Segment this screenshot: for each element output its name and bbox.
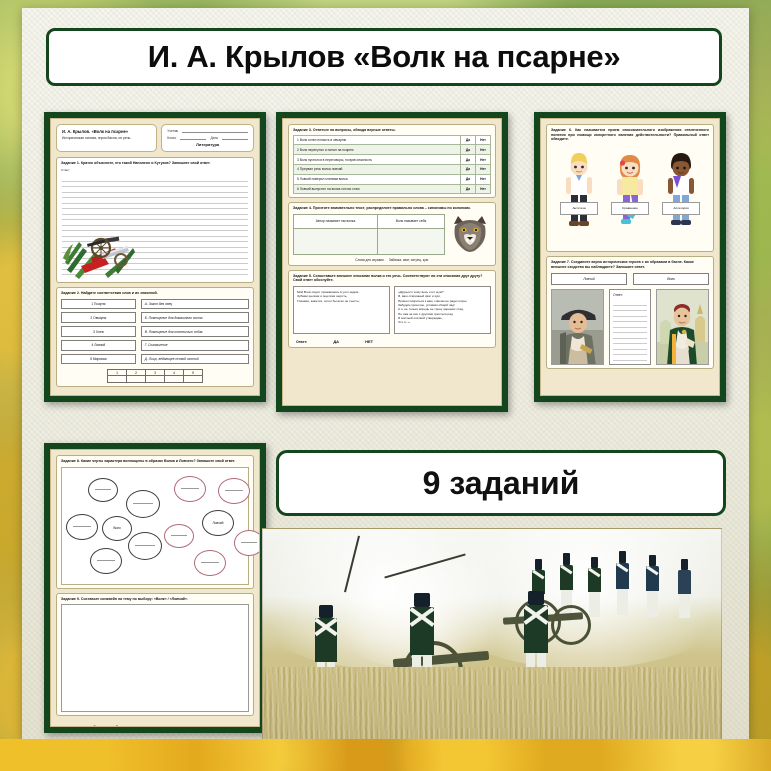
napoleon-portrait: [551, 289, 604, 365]
table-row: 4 Прервал речь волка ловчий Да Нет: [294, 164, 491, 174]
task-3-heading: Задание 3. Ответьте на вопросы, обводя в…: [293, 128, 491, 133]
worksheet-meta-box: Ученик Класс Дата Литература: [161, 124, 254, 152]
task-count-text: 9 заданий: [423, 465, 580, 502]
task-6-block: Задание 6. Как называется прием иносказа…: [546, 124, 714, 252]
grade-field[interactable]: [129, 723, 217, 727]
worksheet-card-page-3[interactable]: Задание 6. Как называется прием иносказа…: [534, 112, 726, 402]
task-4-hint: Слова для справок: Забияка, сват, хитрец…: [293, 258, 491, 262]
task-7-heading: Задание 7. Соедините верно исторических …: [551, 260, 709, 269]
task-2-definition[interactable]: А. Загон для овец: [141, 299, 249, 309]
task-2-term[interactable]: 3 Хлев: [61, 326, 136, 336]
task-3-yes[interactable]: Да: [461, 145, 476, 155]
task-2-definition[interactable]: Б. Помещение для домашнего скота: [141, 312, 249, 322]
answer-cell[interactable]: [108, 376, 127, 383]
task-3-no[interactable]: Нет: [476, 135, 491, 145]
task-7-answer-lines[interactable]: [613, 300, 647, 361]
task-2-terms-column: 1 Псарня 2 Овчарня 3 Хлев 4 Ловчий 5 Мир…: [61, 299, 136, 365]
cannon-sabre-flags-icon: [61, 218, 135, 280]
kutuzov-portrait: [656, 289, 709, 365]
title-banner: И. А. Крылов «Волк на псарне»: [46, 28, 722, 86]
table-row: 5 Ловчий поверил клятвам волка Да Нет: [294, 174, 491, 184]
task-2-definitions-column: А. Загон для овец Б. Помещение для домаш…: [141, 299, 249, 365]
task-3-no[interactable]: Нет: [476, 174, 491, 184]
task-2-term[interactable]: 1 Псарня: [61, 299, 136, 309]
table-row: 6 Ловчий выпустил на волка гончих стаю Д…: [294, 184, 491, 194]
task-7-name-volk[interactable]: Волк: [633, 273, 709, 285]
worksheet-page-4-inner: Задание 8. Какие черты характера воплоще…: [50, 449, 260, 727]
option-sign-allegoriya[interactable]: Аллегория: [662, 202, 700, 215]
task-4-table: Автор называет так волка Волк называет с…: [293, 214, 445, 255]
task-2-heading: Задание 2. Найдите соответствия слов и и…: [61, 291, 249, 296]
task-3-yes[interactable]: Да: [461, 164, 476, 174]
task-3-yes[interactable]: Да: [461, 184, 476, 194]
worksheet-title-box: И. А. Крылов. «Волк на псарне» Историчес…: [56, 124, 157, 152]
task-3-no[interactable]: Нет: [476, 155, 491, 165]
task-3-question: 3 Волк пустился в переговоры, почуяв опа…: [294, 155, 461, 165]
class-field[interactable]: [180, 136, 206, 140]
task-4-col1-cell[interactable]: [294, 228, 378, 254]
table-row: 3 Волк пустился в переговоры, почуяв опа…: [294, 155, 491, 165]
center-bubble-volk[interactable]: Волк: [102, 516, 132, 541]
worksheet-page-1-inner: И. А. Крылов. «Волк на псарне» Историчес…: [50, 118, 260, 396]
kid-boy-dark[interactable]: Аллегория: [656, 149, 706, 237]
task-5-no-option[interactable]: НЕТ: [365, 339, 373, 344]
task-7-block: Задание 7. Соедините верно исторических …: [546, 256, 714, 369]
date-field[interactable]: [222, 136, 248, 140]
task-6-illustration: Антитеза: [551, 145, 709, 237]
table-row: 1 Волк хотел попасть в овчарню Да Нет: [294, 135, 491, 145]
trait-bubble-empty[interactable]: [126, 490, 160, 518]
task-3-question: 1 Волк хотел попасть в овчарню: [294, 135, 461, 145]
task-2-term[interactable]: 5 Мировая: [61, 354, 136, 364]
class-date-row: Класс Дата: [167, 136, 248, 140]
task-6-heading: Задание 6. Как называется прием иносказа…: [551, 128, 709, 142]
sunflower-border-bottom: [0, 739, 771, 771]
battle-reenactment-photo: [262, 528, 722, 740]
student-row: Ученик: [167, 129, 248, 133]
task-count-banner: 9 заданий: [276, 450, 726, 516]
task-3-table: 1 Волк хотел попасть в овчарню Да Нет 2 …: [293, 135, 491, 195]
task-3-yes[interactable]: Да: [461, 155, 476, 165]
page-title: И. А. Крылов «Волк на псарне»: [148, 39, 621, 75]
grade-row: Оценка за работу:: [56, 723, 254, 727]
task-2-term[interactable]: 2 Овчарня: [61, 312, 136, 322]
worksheet-card-page-4[interactable]: Задание 8. Какие черты характера воплоще…: [44, 443, 266, 733]
task-8-heading: Задание 8. Какие черты характера воплоще…: [61, 459, 249, 464]
task-8-block: Задание 8. Какие черты характера воплоще…: [56, 455, 254, 589]
center-bubble-lovchiy[interactable]: Ловчий: [202, 510, 234, 536]
task-4-block: Задание 4. Прочтите внимательно текст, р…: [288, 202, 496, 266]
task-2-definition[interactable]: Д. Лицо, ведающее псовой охотой: [141, 354, 249, 364]
task-4-col2-header: Волк называет себя: [378, 214, 445, 228]
task-7-answer-box[interactable]: Ответ:: [609, 289, 651, 365]
task-3-question: 2 Волк перепутал и попал на псарню: [294, 145, 461, 155]
student-label: Ученик: [167, 129, 178, 133]
task-7-name-lovchiy[interactable]: Ловчий: [551, 273, 627, 285]
task-1-heading: Задание 1. Кратко объясните, кто такой Н…: [61, 161, 249, 166]
task-4-col2-cell[interactable]: [378, 228, 445, 254]
task-5-appearance-text: Мой Волк сидит, прижавшись в угол задом.…: [293, 286, 390, 334]
student-field[interactable]: [182, 129, 248, 133]
date-label: Дата: [210, 136, 217, 140]
grade-label: Оценка за работу:: [93, 725, 124, 727]
task-7-portraits-row: Ответ:: [551, 289, 709, 365]
task-3-yes[interactable]: Да: [461, 174, 476, 184]
task-5-speech-text: «Друзья! к чему весь этот шум? Я, ваш ст…: [394, 286, 491, 334]
task-2-block: Задание 2. Найдите соответствия слов и и…: [56, 287, 254, 387]
task-2-definition[interactable]: Г. Соглашение: [141, 340, 249, 350]
task-5-columns: Мой Волк сидит, прижавшись в угол задом.…: [293, 286, 491, 334]
trait-bubble-empty[interactable]: [174, 476, 206, 502]
task-4-hint-label: Слова для справок:: [355, 258, 384, 262]
task-5-heading: Задание 5. Сопоставьте внешнее описание …: [293, 274, 491, 283]
answer-cell[interactable]: [165, 376, 184, 383]
trait-bubble-empty[interactable]: [128, 532, 162, 560]
class-label: Класс: [167, 136, 176, 140]
trait-bubble-empty[interactable]: [218, 478, 250, 504]
task-7-name-boxes: Ловчий Волк: [551, 273, 709, 285]
trait-bubble-empty[interactable]: [66, 514, 98, 540]
answer-cell[interactable]: [127, 376, 146, 383]
task-3-yes[interactable]: Да: [461, 135, 476, 145]
trait-bubble-empty[interactable]: [194, 550, 226, 576]
task-3-block: Задание 3. Ответьте на вопросы, обводя в…: [288, 124, 496, 198]
worksheet-subtitle: Историческая основа, герои басни, их реч…: [62, 136, 151, 141]
worksheet-work-title: И. А. Крылов. «Волк на псарне»: [62, 129, 151, 134]
task-2-term[interactable]: 4 Ловчий: [61, 340, 136, 350]
task-9-heading: Задание 9. Составьте синквейн на тему по…: [61, 597, 249, 602]
trait-bubble-empty[interactable]: [234, 530, 260, 556]
task-2-answer-table[interactable]: 1 2 3 4 5: [61, 369, 249, 383]
kid-girl-redhead[interactable]: Сравнение: [605, 149, 655, 237]
subject-label: Литература: [167, 142, 248, 147]
table-row: 2 Волк перепутал и попал на псарню Да Не…: [294, 145, 491, 155]
wolf-head-icon: [449, 214, 491, 254]
task-2-definition[interactable]: В. Помещение для охотничьих собак: [141, 326, 249, 336]
worksheet-header: И. А. Крылов. «Волк на псарне» Историчес…: [56, 124, 254, 152]
task-4-col1-header: Автор называет так волка: [294, 214, 378, 228]
trait-bubble-empty[interactable]: [164, 524, 194, 548]
task-1-block: Задание 1. Кратко объясните, кто такой Н…: [56, 157, 254, 283]
task-4-hint-words: Забияка, сват, хитрец, кум.: [389, 258, 429, 262]
table-row: Автор называет так волка Волк называет с…: [294, 214, 445, 228]
answer-cell[interactable]: [146, 376, 165, 383]
worksheet-card-page-1[interactable]: И. А. Крылов. «Волк на псарне» Историчес…: [44, 112, 266, 402]
task-4-heading: Задание 4. Прочтите внимательно текст, р…: [293, 206, 491, 211]
task-5-answer-label: Ответ:: [296, 340, 307, 344]
task-3-no[interactable]: Нет: [476, 145, 491, 155]
task-3-question: 5 Ловчий поверил клятвам волка: [294, 174, 461, 184]
task-9-answer-area[interactable]: [61, 604, 249, 712]
trait-bubble-empty[interactable]: [90, 548, 122, 574]
task-3-question: 6 Ловчий выпустил на волка гончих стаю: [294, 184, 461, 194]
answer-cell[interactable]: [184, 376, 203, 383]
task-5-block: Задание 5. Сопоставьте внешнее описание …: [288, 270, 496, 348]
task-5-answer-row: Ответ: ДА НЕТ: [293, 339, 491, 344]
worksheet-card-page-2[interactable]: Задание 3. Ответьте на вопросы, обводя в…: [276, 112, 508, 412]
table-row: [108, 376, 203, 383]
task-2-matching-grid: 1 Псарня 2 Овчарня 3 Хлев 4 Ловчий 5 Мир…: [61, 299, 249, 365]
task-9-block: Задание 9. Составьте синквейн на тему по…: [56, 593, 254, 717]
table-row: [294, 228, 445, 254]
task-3-question: 4 Прервал речь волка ловчий: [294, 164, 461, 174]
option-sign-antiteza[interactable]: Антитеза: [560, 202, 598, 215]
trait-bubble-empty[interactable]: [88, 478, 118, 502]
task-3-no[interactable]: Нет: [476, 164, 491, 174]
task-5-yes-option[interactable]: ДА: [333, 339, 339, 344]
kid-boy-blond[interactable]: Антитеза: [554, 149, 604, 237]
worksheet-page-3-inner: Задание 6. Как называется прием иносказа…: [540, 118, 720, 396]
task-4-row: Автор называет так волка Волк называет с…: [293, 214, 491, 255]
task-1-answer-label: Ответ:: [61, 168, 249, 172]
task-7-answer-label: Ответ:: [613, 293, 647, 297]
task-3-no[interactable]: Нет: [476, 184, 491, 194]
option-sign-sravnenie[interactable]: Сравнение: [611, 202, 649, 215]
worksheet-page-2-inner: Задание 3. Ответьте на вопросы, обводя в…: [282, 118, 502, 406]
task-8-cluster-diagram: Волк Ловчий: [61, 467, 249, 585]
